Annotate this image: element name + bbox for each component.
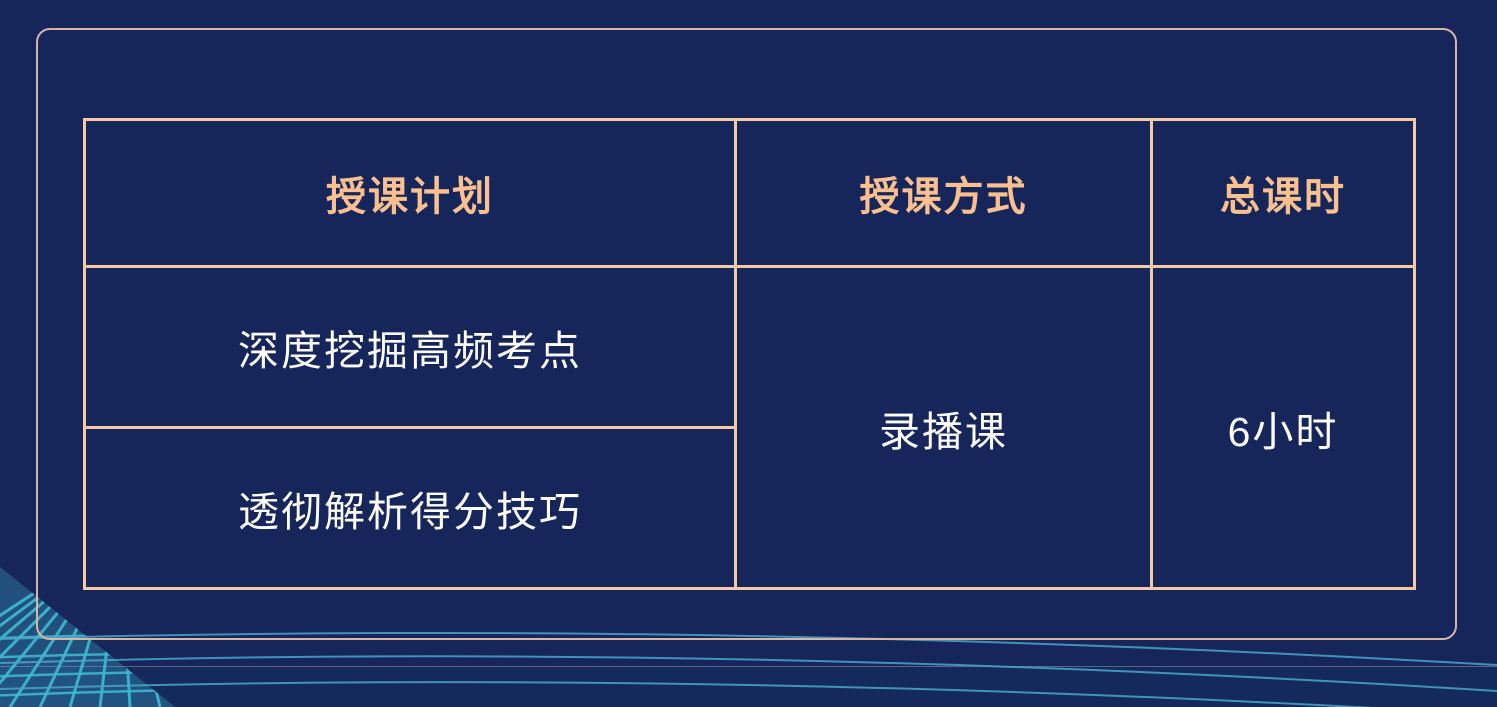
lower-band: [0, 666, 1497, 707]
table-row: 深度挖掘高频考点 录播课 6小时: [85, 267, 1415, 428]
table-header-row: 授课计划 授课方式 总课时: [85, 120, 1415, 267]
plan-item-1: 深度挖掘高频考点: [85, 267, 736, 428]
header-total-hours: 总课时: [1152, 120, 1415, 267]
teaching-plan-table: 授课计划 授课方式 总课时 深度挖掘高频考点 录播课 6小时 透彻解析得分技巧: [83, 118, 1416, 590]
teaching-method-value: 录播课: [736, 267, 1152, 589]
slide-root: 授课计划 授课方式 总课时 深度挖掘高频考点 录播课 6小时 透彻解析得分技巧: [0, 0, 1497, 707]
header-teaching-plan: 授课计划: [85, 120, 736, 267]
total-hours-value: 6小时: [1152, 267, 1415, 589]
header-teaching-method: 授课方式: [736, 120, 1152, 267]
plan-item-2: 透彻解析得分技巧: [85, 428, 736, 589]
